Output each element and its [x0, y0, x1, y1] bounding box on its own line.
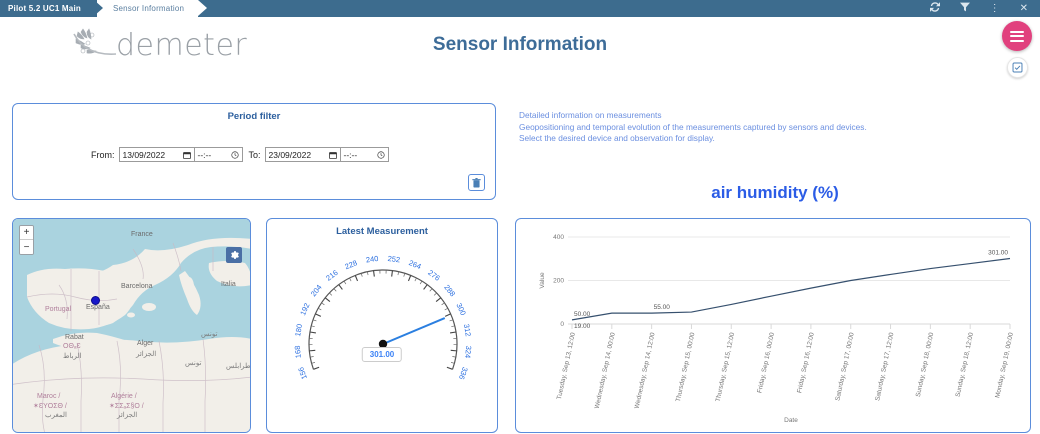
calendar-icon	[329, 151, 337, 159]
y-tick-label: 0	[560, 321, 564, 328]
x-tick-label: Saturday, Sep 17, 12:00	[874, 332, 895, 402]
time-series-chart: 0200400ValueTuesday, Sep 13, 12:00Wednes…	[516, 219, 1032, 434]
map-label: Barcelona	[121, 283, 153, 290]
to-date-input[interactable]: 23/09/2022	[265, 147, 341, 162]
gauge-widget: 1561681801922042162282402522642762883003…	[267, 237, 499, 427]
period-filter-panel: Period filter From: 13/09/2022 --:-- To:…	[12, 103, 496, 200]
top-bar: Pilot 5.2 UC1 Main Sensor Information ⋮ …	[0, 0, 1040, 17]
gauge-tick-label: 312	[462, 323, 473, 337]
clock-icon	[231, 151, 239, 159]
close-icon[interactable]: ✕	[1020, 4, 1028, 14]
map-label: Algérie /	[111, 393, 137, 400]
gear-icon	[229, 250, 239, 260]
breadcrumb-label: Pilot 5.2 UC1 Main	[8, 4, 81, 13]
gauge-tick-label: 168	[293, 345, 303, 358]
time-series-chart-panel: 0200400ValueTuesday, Sep 13, 12:00Wednes…	[515, 218, 1031, 433]
gauge-tick-label: 192	[298, 302, 311, 317]
refresh-icon[interactable]	[930, 2, 940, 15]
gauge-tick-label: 228	[343, 258, 358, 271]
x-tick-label: Thursday, Sep 15, 12:00	[715, 332, 737, 403]
clear-filter-button[interactable]	[468, 174, 485, 191]
gauge-tick-label: 156	[296, 366, 309, 381]
x-tick-label: Sunday, Sep 18, 00:00	[915, 332, 936, 398]
from-time-value: --:--	[198, 150, 212, 160]
x-tick-label: Thursday, Sep 15, 00:00	[675, 332, 697, 403]
x-tick-label: Sunday, Sep 18, 12:00	[955, 332, 976, 398]
breadcrumb-label: Sensor Information	[113, 4, 184, 13]
from-date-value: 13/09/2022	[123, 150, 166, 160]
gauge-tick-label: 300	[454, 302, 467, 317]
map-label: ✶ƐΥOΣΘ /	[33, 402, 67, 410]
to-time-value: --:--	[344, 150, 358, 160]
x-tick-label: Saturday, Sep 17, 00:00	[834, 332, 855, 402]
gauge-tick-label: 252	[387, 254, 401, 265]
x-tick-label: Friday, Sep 16, 00:00	[756, 332, 776, 394]
gauge-value-readout: 301.00	[362, 347, 402, 362]
map-label: المغرب	[45, 411, 67, 419]
from-time-input[interactable]: --:--	[195, 147, 243, 162]
x-tick-label: Tuesday, Sep 13, 12:00	[556, 332, 577, 401]
data-point-label: 19.00	[574, 323, 591, 330]
data-point-label: 301.00	[988, 250, 1008, 257]
map-label: Alger	[137, 340, 153, 347]
chart-series-line	[572, 259, 1010, 320]
x-tick-label: Wednesday, Sep 14, 12:00	[634, 332, 657, 410]
from-label: From:	[91, 150, 115, 160]
chart-heading: air humidity (%)	[519, 183, 1031, 203]
to-date-value: 23/09/2022	[269, 150, 312, 160]
page-title: Sensor Information	[0, 34, 1040, 56]
gauge-tick-label: 276	[426, 268, 441, 283]
map-settings-button[interactable]	[226, 247, 242, 263]
x-tick-label: Friday, Sep 16, 12:00	[796, 332, 816, 394]
map-label: France	[131, 231, 153, 238]
gauge-tick-label: 336	[457, 366, 470, 381]
breadcrumb-pilot-main[interactable]: Pilot 5.2 UC1 Main	[0, 0, 95, 17]
to-time-input[interactable]: --:--	[341, 147, 389, 162]
y-tick-label: 400	[553, 234, 564, 241]
hamburger-icon	[1010, 28, 1024, 44]
top-bar-actions: ⋮ ✕	[930, 0, 1040, 17]
gauge-tick-label: 264	[408, 258, 423, 271]
map-label: España	[86, 304, 110, 311]
trash-icon	[472, 178, 481, 188]
calendar-icon	[183, 151, 191, 159]
to-label: To:	[249, 150, 261, 160]
map-canvas[interactable]: FranceBarcelonaItaliaPortugalEspañaRabat…	[13, 219, 250, 432]
period-filter-row: From: 13/09/2022 --:-- To: 23/09/2022	[91, 147, 389, 162]
map-label: Maroc /	[37, 393, 60, 400]
description-block: Detailed information on measurements Geo…	[519, 110, 949, 145]
hamburger-menu-button[interactable]	[1002, 21, 1032, 51]
map-label: Italia	[221, 281, 236, 288]
map-label: OΘₐƐ	[63, 343, 81, 350]
map-label: تونس	[201, 330, 217, 338]
checkbox-icon	[1012, 62, 1023, 73]
map-label: الجزائر	[136, 350, 156, 358]
description-line-1: Detailed information on measurements	[519, 110, 949, 122]
gauge-tick-label: 204	[309, 283, 324, 298]
description-line-2: Geopositioning and temporal evolution of…	[519, 122, 949, 134]
gauge-graphic: 1561681801922042162282402522642762883003…	[267, 237, 499, 427]
map-zoom-in-button[interactable]: +	[20, 226, 33, 240]
from-date-input[interactable]: 13/09/2022	[119, 147, 195, 162]
map-label: تونس	[185, 359, 201, 367]
map-graphic	[13, 219, 250, 432]
y-axis-title: Value	[539, 272, 546, 289]
map-label: الرباط	[63, 352, 82, 360]
gauge-tick-label: 324	[463, 345, 473, 358]
x-tick-label: Monday, Sep 19, 00:00	[994, 332, 1015, 399]
map-zoom-controls[interactable]: + −	[19, 225, 34, 255]
period-filter-title: Period filter	[13, 111, 495, 122]
gauge-tick-label: 216	[324, 268, 339, 283]
map-label: Portugal	[45, 306, 71, 313]
breadcrumb-sensor-information[interactable]: Sensor Information	[97, 0, 198, 17]
map-label: الجزائر	[117, 411, 137, 419]
data-point-label: 55.00	[654, 304, 671, 311]
map-label: Rabat	[65, 334, 84, 341]
more-vertical-icon[interactable]: ⋮	[990, 4, 1000, 14]
x-axis-title: Date	[784, 417, 798, 424]
data-point-label: 50.00	[574, 311, 591, 318]
checkbox-action-button[interactable]	[1007, 57, 1028, 78]
latest-measurement-panel: Latest Measurement 156168180192204216228…	[266, 218, 498, 433]
y-tick-label: 200	[553, 278, 564, 285]
map-panel[interactable]: FranceBarcelonaItaliaPortugalEspañaRabat…	[12, 218, 251, 433]
gauge-tick-label: 288	[442, 283, 457, 298]
map-zoom-out-button[interactable]: −	[20, 240, 33, 254]
map-label: ✶ΣΣₐΣ§O /	[109, 402, 144, 410]
x-tick-label: Wednesday, Sep 14, 00:00	[594, 332, 617, 410]
gauge-tick-label: 180	[293, 323, 304, 337]
map-label: طرابلس	[226, 362, 250, 370]
gauge-title: Latest Measurement	[267, 226, 497, 237]
gauge-tick-label: 240	[365, 254, 379, 265]
clock-icon	[377, 151, 385, 159]
filter-icon[interactable]	[960, 2, 970, 15]
description-line-3: Select the desired device and observatio…	[519, 133, 949, 145]
